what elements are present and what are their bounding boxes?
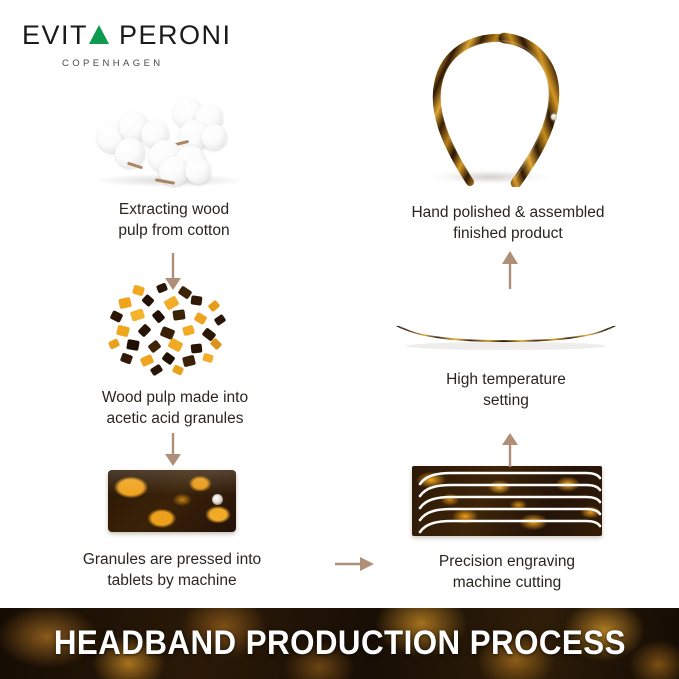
strip-svg: [390, 312, 622, 356]
step-caption: Wood pulp made into acetic acid granules: [69, 388, 281, 429]
arrow-cotton-to-granules: [160, 252, 186, 292]
step-caption: High temperature setting: [390, 370, 622, 411]
arrow-granules-to-tablet: [160, 432, 186, 468]
curved-headband-strip-image: [390, 312, 622, 356]
acetate-granules-image: [105, 282, 245, 374]
banner-title: HEADBAND PRODUCTION PROCESS: [53, 624, 625, 663]
tortoiseshell-tablet-image: [108, 470, 236, 532]
step-caption: Extracting wood pulp from cotton: [88, 200, 260, 241]
tortoiseshell-headband-image: [418, 22, 598, 187]
cut-acetate-sheet-image: [412, 466, 602, 536]
brand-wordmark: EVIT PERONI: [22, 22, 282, 49]
brand-name-part1: EVIT: [22, 22, 88, 49]
green-triangle-icon: [89, 25, 109, 44]
brand-tagline: COPENHAGEN: [62, 58, 282, 69]
step-caption: Precision engraving machine cutting: [398, 552, 616, 593]
arrow-tablet-to-engraving: [334, 552, 376, 576]
step-caption: Granules are pressed into tablets by mac…: [64, 550, 280, 591]
step-granules-pressed-into-tablets: Granules are pressed into tablets by mac…: [108, 470, 236, 591]
acetate-sheet: [412, 466, 602, 536]
cut-slots-svg: [412, 466, 602, 536]
tablet-gloss: [108, 470, 236, 495]
cotton-bolls-image: [89, 96, 259, 188]
step-hand-polished-assembled: Hand polished & assembled finished produ…: [418, 22, 598, 244]
brand-name-part2: PERONI: [110, 22, 232, 49]
infographic-page: EVIT PERONI COPENHAGEN: [0, 0, 679, 679]
tablet-hole-icon: [212, 494, 223, 505]
step-acetic-acid-granules: Wood pulp made into acetic acid granules: [105, 282, 245, 429]
step-extracting-wood-pulp: Extracting wood pulp from cotton: [88, 96, 260, 241]
arrow-engraving-to-heat: [497, 432, 523, 468]
arrow-heat-to-finished: [497, 250, 523, 290]
headband-svg: [418, 22, 598, 187]
step-caption: Hand polished & assembled finished produ…: [386, 203, 630, 244]
brand-logo: EVIT PERONI COPENHAGEN: [22, 22, 282, 69]
bottom-banner: HEADBAND PRODUCTION PROCESS: [0, 608, 679, 679]
step-high-temperature-setting: High temperature setting: [390, 312, 622, 411]
crystal-accent-icon: [551, 114, 557, 120]
step-precision-engraving: Precision engraving machine cutting: [412, 466, 602, 593]
